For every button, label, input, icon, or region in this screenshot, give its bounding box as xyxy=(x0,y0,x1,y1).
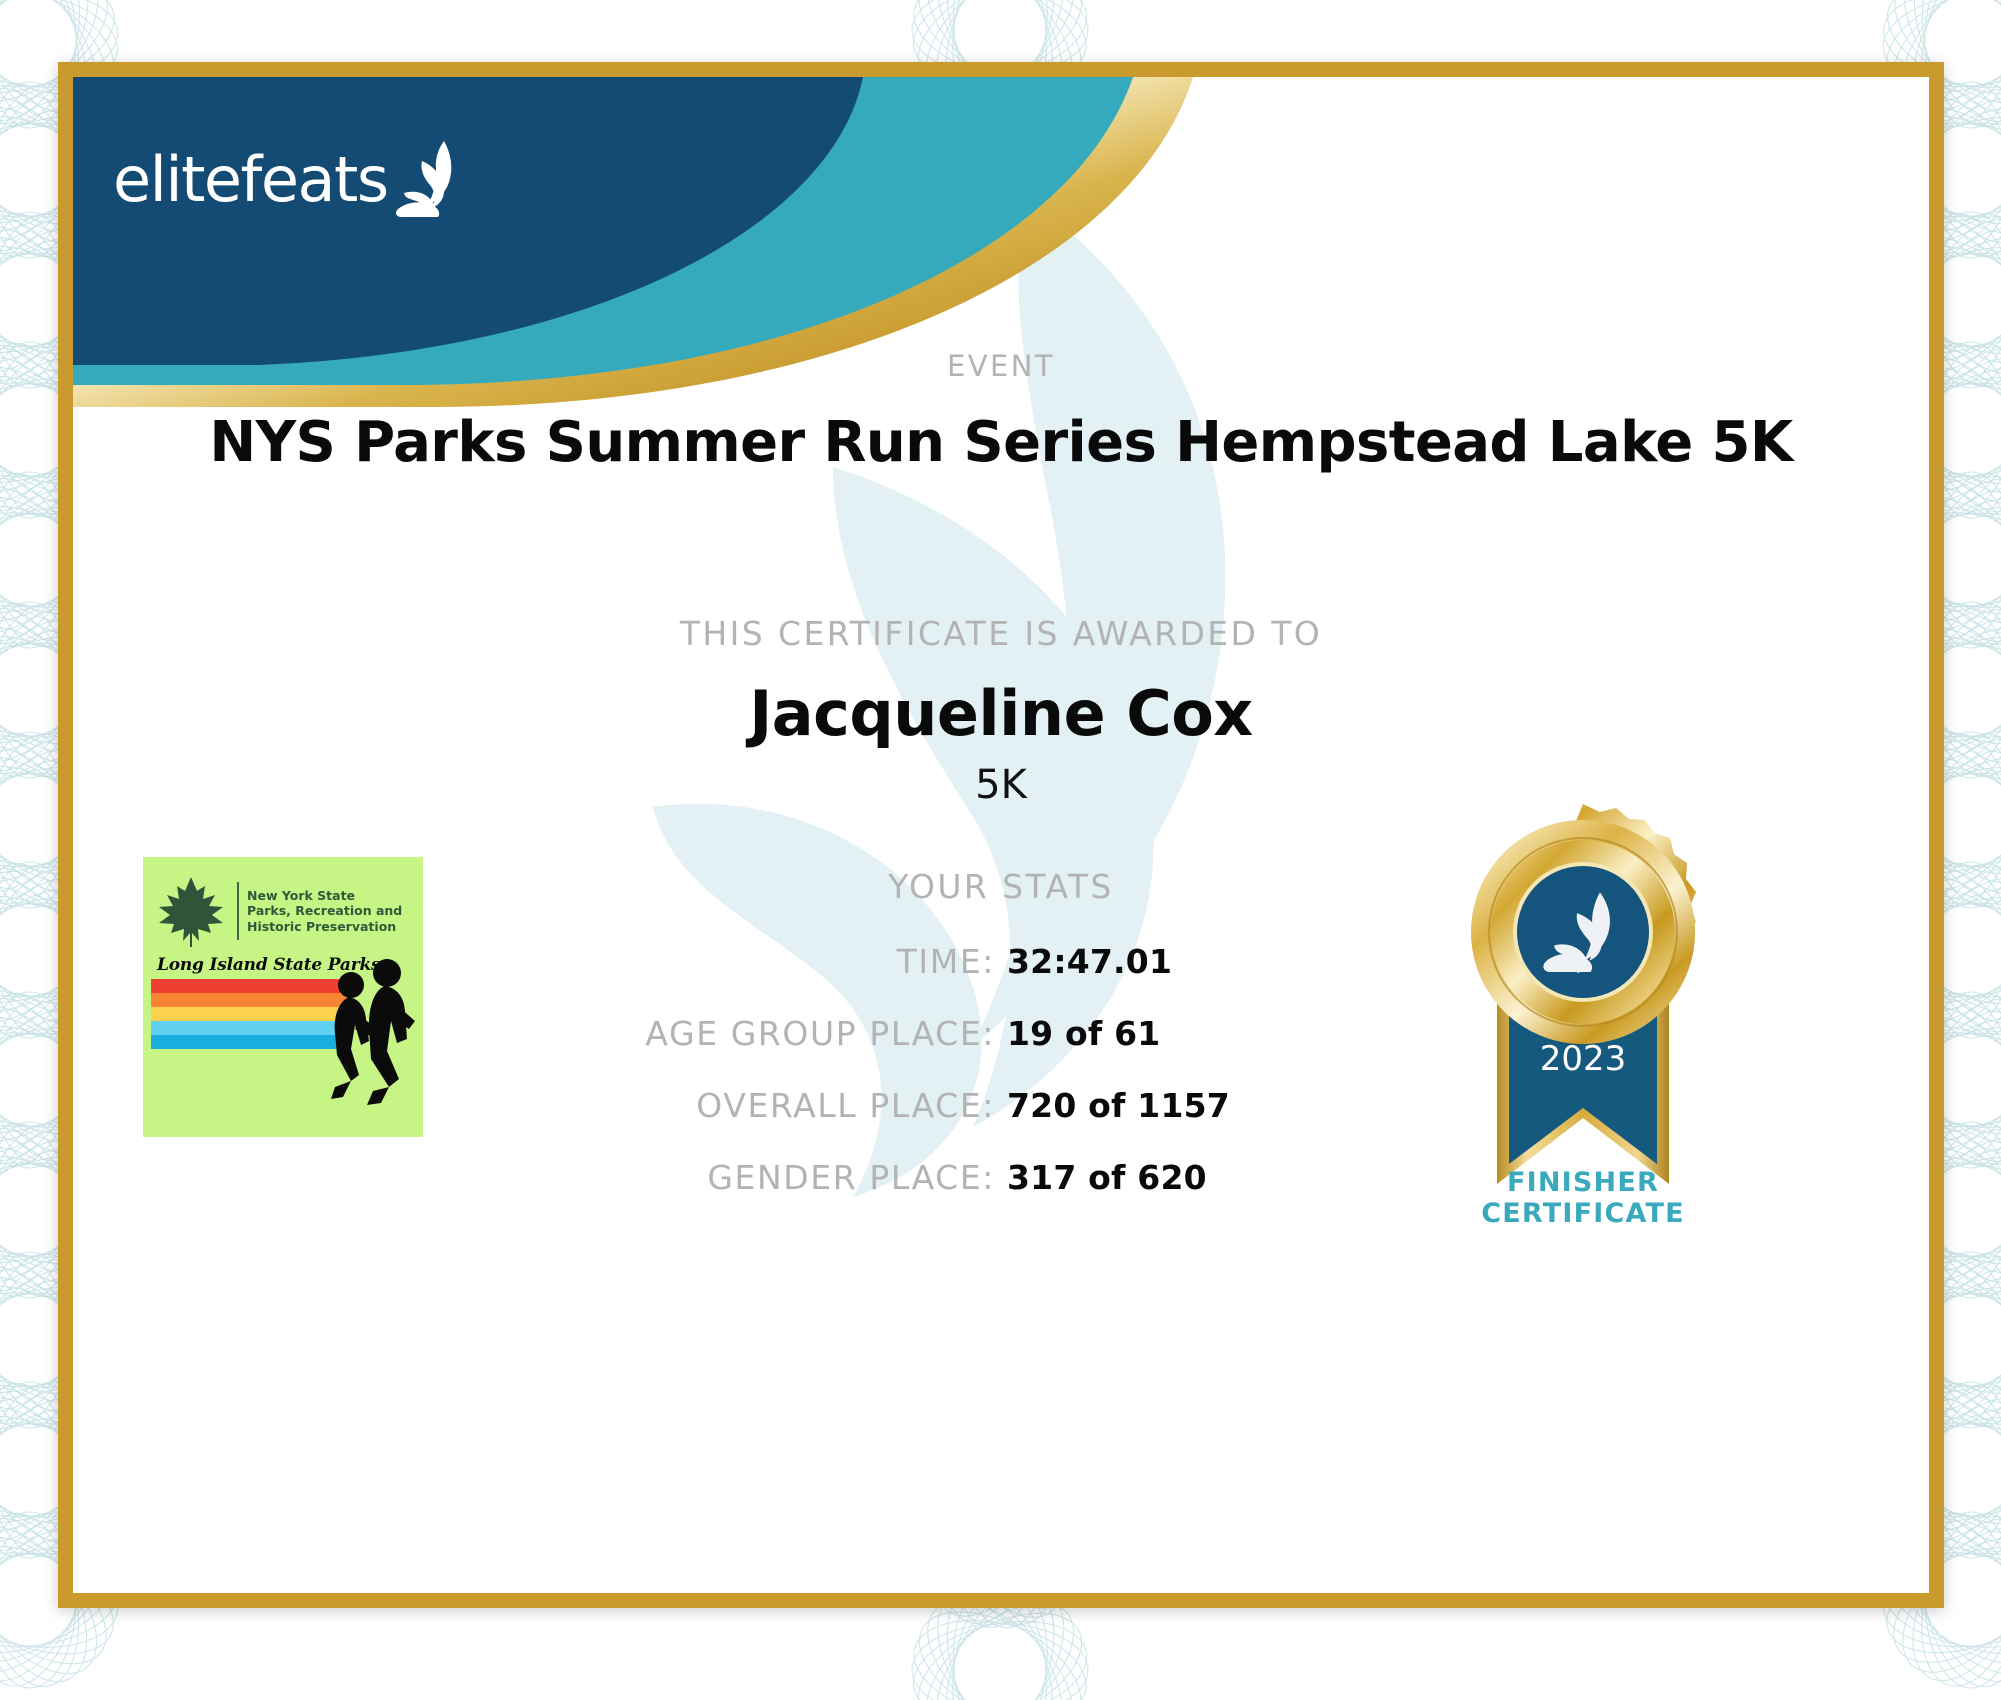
certificate-gold-frame: elitefeats EVENT NYS Parks Summer Run Se… xyxy=(58,62,1944,1608)
elitefeats-logo: elitefeats xyxy=(113,139,464,211)
finisher-caption-line-2: CERTIFICATE xyxy=(1413,1198,1753,1229)
agency-name: New York State Parks, Recreation and His… xyxy=(247,888,402,934)
runners-silhouette-icon xyxy=(311,959,421,1109)
stat-label-age-group-place: AGE GROUP PLACE: xyxy=(335,1014,995,1053)
summer-run-lockup: Long Island State Parks xyxy=(151,955,415,1110)
maple-leaf-icon xyxy=(153,873,229,949)
agency-line-2: Parks, Recreation and xyxy=(247,903,402,918)
stat-label-overall-place: OVERALL PLACE: xyxy=(335,1086,995,1125)
winged-foot-icon xyxy=(392,139,464,219)
event-title: NYS Parks Summer Run Series Hempstead La… xyxy=(73,410,1929,475)
medal-year-text: 2023 xyxy=(1540,1039,1627,1079)
recipient-name: Jacqueline Cox xyxy=(73,677,1929,750)
finisher-medal: 2023 xyxy=(1453,802,1713,1322)
event-label: EVENT xyxy=(73,349,1929,383)
logo-divider xyxy=(237,882,239,940)
stat-label-time: TIME: xyxy=(335,942,995,981)
finisher-certificate-caption: FINISHER CERTIFICATE xyxy=(1413,1167,1753,1229)
finisher-caption-line-1: FINISHER xyxy=(1413,1167,1753,1198)
awarded-to-label: THIS CERTIFICATE IS AWARDED TO xyxy=(73,614,1929,653)
stat-label-gender-place: GENDER PLACE: xyxy=(335,1158,995,1197)
agency-line-3: Historic Preservation xyxy=(247,919,402,934)
nys-parks-summer-run-logo: New York State Parks, Recreation and His… xyxy=(143,857,423,1137)
agency-line-1: New York State xyxy=(247,888,402,903)
nys-parks-agency-lockup: New York State Parks, Recreation and His… xyxy=(143,857,423,949)
elitefeats-wordmark: elitefeats xyxy=(113,149,388,211)
certificate-page: elitefeats EVENT NYS Parks Summer Run Se… xyxy=(0,0,2001,1700)
long-island-state-parks-title: Long Island State Parks xyxy=(157,955,380,975)
